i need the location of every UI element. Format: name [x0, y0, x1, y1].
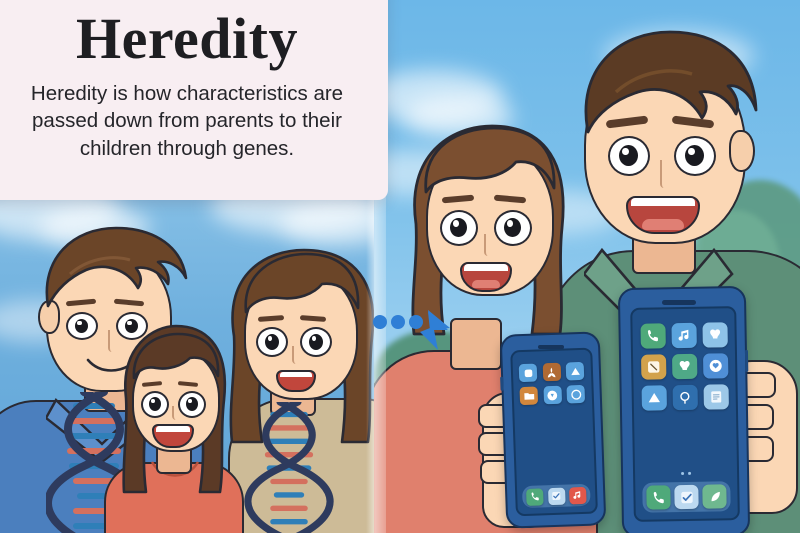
app-music-icon[interactable] [671, 323, 696, 348]
app-compass-icon[interactable] [543, 386, 562, 405]
app-phone-icon[interactable] [640, 323, 665, 348]
app-files-icon[interactable] [519, 387, 538, 406]
phone-left[interactable] [500, 331, 607, 528]
dna-helix-right [244, 402, 334, 533]
dock-music-icon[interactable] [569, 486, 587, 504]
app-clock-icon[interactable] [641, 354, 666, 379]
app-news-icon[interactable] [704, 384, 729, 409]
phone-right-dock[interactable] [642, 481, 731, 513]
daughter-nose [172, 406, 182, 420]
man-eye-right [674, 136, 716, 176]
app-health-icon[interactable] [672, 354, 697, 379]
phone-right-app-grid[interactable] [640, 322, 728, 410]
mother-eye-left [256, 327, 288, 357]
phone-right-page-dots [635, 471, 737, 476]
dock-phone-icon[interactable] [646, 485, 670, 509]
phone-right-power-button[interactable] [745, 350, 748, 372]
app-weather-icon[interactable] [566, 362, 585, 381]
man-hair [566, 22, 766, 172]
phone-left-volume-button[interactable] [500, 377, 503, 391]
phone-right-screen[interactable] [630, 306, 740, 522]
woman-nose [484, 234, 496, 256]
mother-eye-right [300, 327, 332, 357]
phone-right-earpiece [662, 300, 696, 305]
phone-left-dock[interactable] [522, 484, 591, 508]
app-notes-icon[interactable] [519, 364, 538, 383]
woman-eye-left [440, 210, 478, 246]
dock-tasks-icon[interactable] [548, 487, 566, 505]
page-dot [688, 472, 691, 475]
app-weather2-icon[interactable] [642, 385, 667, 410]
illustration-canvas: Heredity Heredity is how characteristics… [0, 0, 800, 533]
man-eye-left [608, 136, 650, 176]
phone-left-app-grid[interactable] [519, 362, 586, 405]
page-title: Heredity [0, 0, 388, 68]
app-wallet-icon[interactable] [703, 353, 728, 378]
father-hair [30, 222, 200, 334]
phone-right[interactable] [618, 286, 750, 533]
app-search-icon[interactable] [673, 385, 698, 410]
dock-phone-icon[interactable] [526, 488, 544, 506]
daughter-eye-left [141, 391, 169, 418]
page-subtitle: Heredity is how characteristics are pass… [16, 80, 358, 162]
phone-left-earpiece [538, 345, 564, 349]
dock-leaf-icon[interactable] [702, 484, 726, 508]
app-camera-icon[interactable] [567, 385, 586, 404]
dotted-arrow-right [372, 306, 450, 357]
page-dot [681, 472, 684, 475]
man-nose [660, 160, 674, 188]
woman-bangs [414, 122, 564, 232]
text-card: Heredity Heredity is how characteristics… [0, 0, 388, 200]
father-eye-left [66, 312, 98, 340]
phone-left-screen[interactable] [510, 348, 598, 517]
mother-nose [292, 346, 303, 364]
woman-eye-right [494, 210, 532, 246]
app-pdf-icon[interactable] [542, 363, 561, 382]
daughter-eye-right [178, 391, 206, 418]
daughter-bangs [124, 330, 228, 408]
dock-tasks-icon[interactable] [674, 485, 698, 509]
app-photos-icon[interactable] [702, 322, 727, 347]
